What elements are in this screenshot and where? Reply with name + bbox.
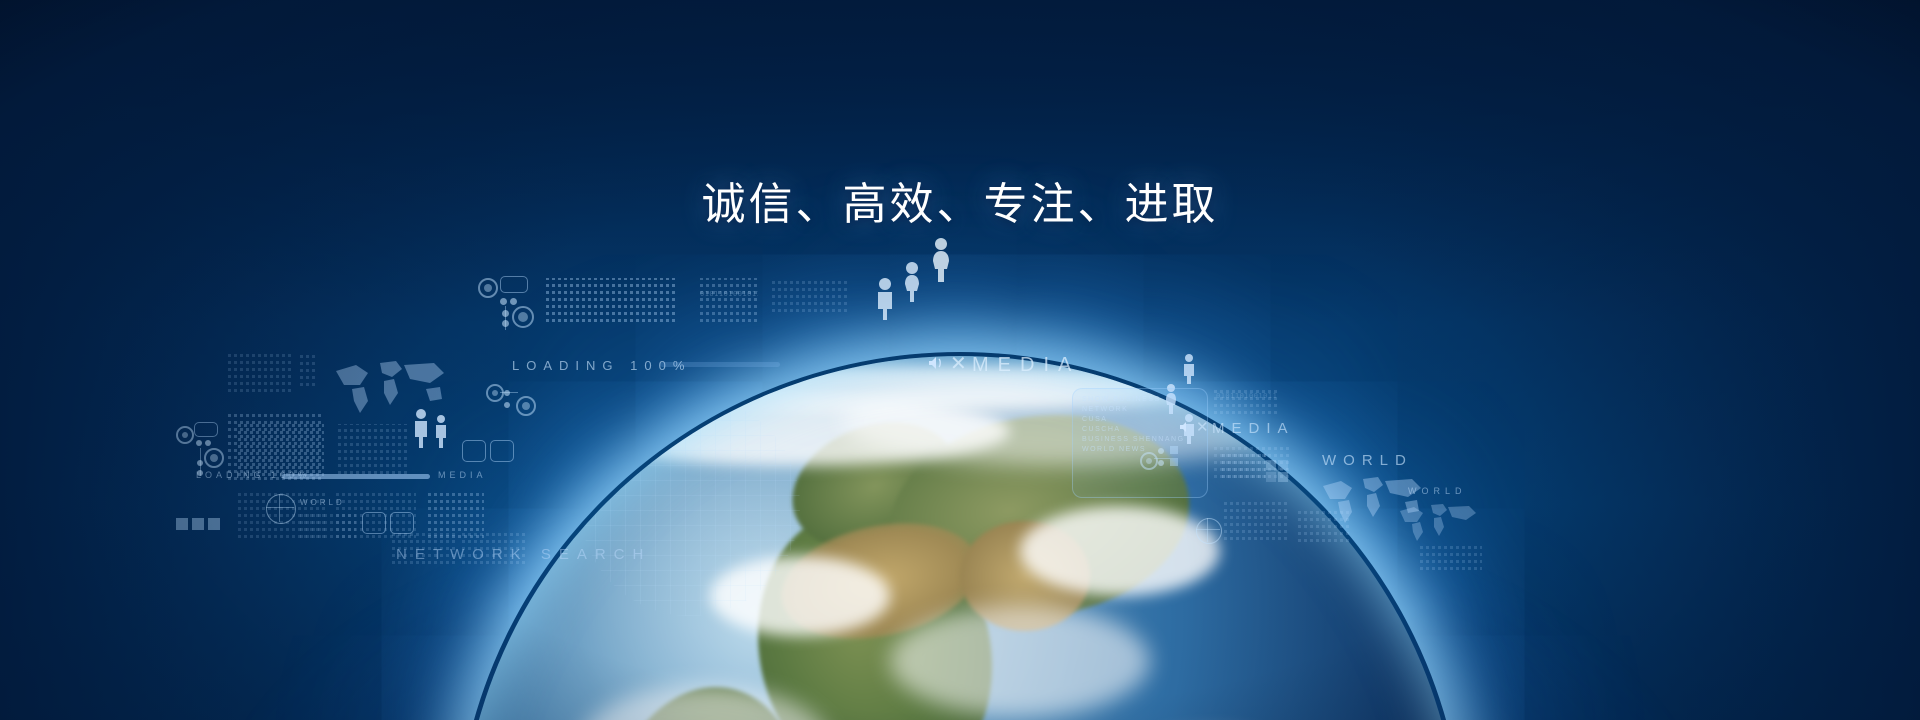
scene-vignette bbox=[0, 0, 1920, 720]
page-title: 诚信、高效、专注、进取 bbox=[0, 168, 1920, 232]
hero-banner: LOADING 100% MEDIA WORLD NETWORK SEARCH bbox=[0, 0, 1920, 720]
